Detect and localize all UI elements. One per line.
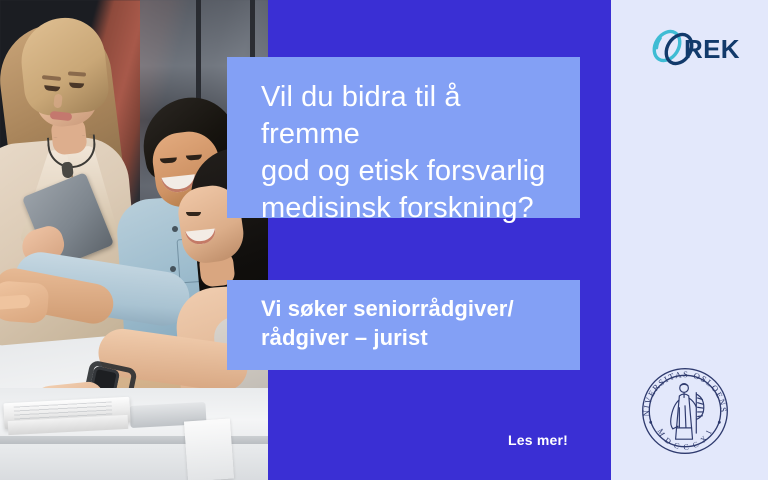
job-advert-banner: Vil du bidra til å fremme god og etisk f… [0,0,768,480]
job-title-line-1: Vi søker seniorrådgiver/ [261,294,546,323]
paper-sheet [184,418,234,480]
headline-line-2: god og etisk forsvarlig [261,153,546,190]
woman-right-eye [186,212,201,216]
read-more-link[interactable]: Les mer! [508,432,568,448]
job-title-card: Vi søker seniorrådgiver/ rådgiver – juri… [227,280,580,370]
job-title-line-2: rådgiver – jurist [261,323,546,352]
headline-line-3: medisinsk forskning? [261,190,546,227]
uio-seal-icon: UNIVERSITAS OSLOENSIS M D C C C X I [638,364,732,458]
headline-line-1: Vil du bidra til å fremme [261,79,546,153]
man-shirt-button [172,226,178,232]
svg-text:UNIVERSITAS OSLOENSIS: UNIVERSITAS OSLOENSIS [638,364,729,416]
man-shirt-button [170,266,176,272]
headline-card: Vil du bidra til å fremme god og etisk f… [227,57,580,218]
uio-seal: UNIVERSITAS OSLOENSIS M D C C C X I [638,364,732,458]
rek-wordmark: REK [684,34,740,65]
